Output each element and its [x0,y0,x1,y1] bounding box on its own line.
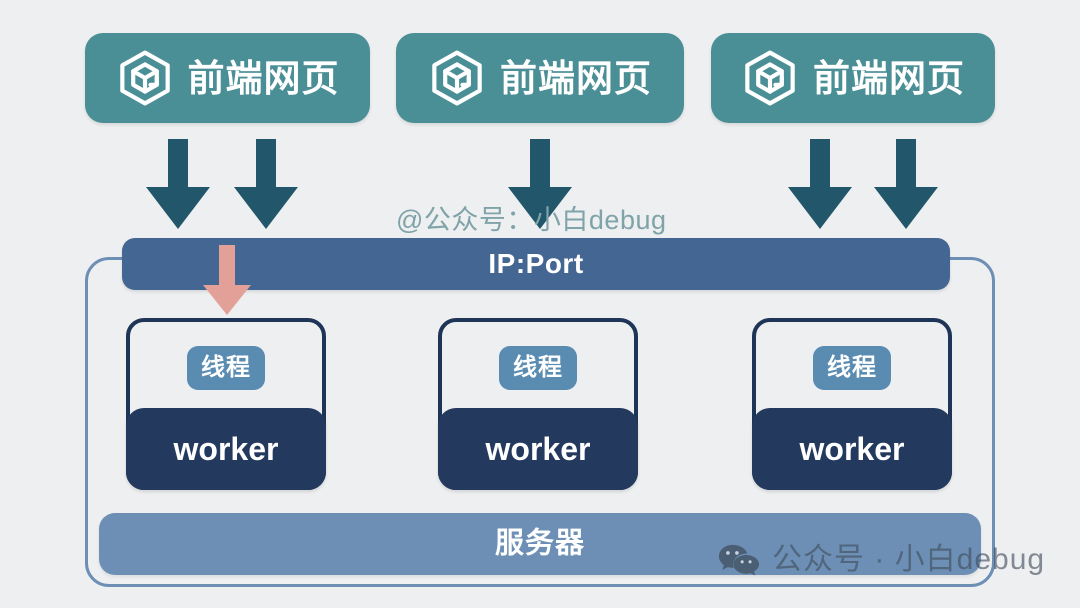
watermark-bottom-label: 公众号 · 小白debug [772,545,1045,575]
thread-label: 线程 [201,356,251,380]
arrow-down-icon [786,139,854,231]
thread-label: 线程 [827,356,877,380]
arrow-down-icon [232,139,300,231]
arrow-down-pink-icon [201,245,253,317]
thread-badge: 线程 [187,346,265,390]
client-box-2: 前端网页 [396,33,684,123]
cube-icon [741,49,799,107]
thread-badge: 线程 [499,346,577,390]
client-label: 前端网页 [813,60,965,97]
worker-box: worker [752,408,952,490]
diagram-canvas: 前端网页 前端网页 [0,0,1080,608]
worker-box: worker [438,408,638,490]
client-box-1: 前端网页 [85,33,370,123]
worker-label: worker [800,433,905,465]
worker-box: worker [126,408,326,490]
thread-badge: 线程 [813,346,891,390]
cube-icon [116,49,174,107]
worker-group: 线程 worker [126,318,326,490]
watermark-bottom: 公众号 · 小白debug [718,543,1045,577]
wechat-icon [718,543,760,577]
worker-group: 线程 worker [752,318,952,490]
ip-port-label: IP:Port [488,250,583,278]
thread-label: 线程 [513,356,563,380]
worker-label: worker [174,433,279,465]
watermark-middle: @公众号：小白debug [396,198,667,237]
cube-icon [428,49,486,107]
arrow-down-icon [144,139,212,231]
worker-label: worker [486,433,591,465]
worker-group: 线程 worker [438,318,638,490]
client-box-3: 前端网页 [711,33,995,123]
client-label: 前端网页 [188,60,340,97]
arrow-down-icon [872,139,940,231]
client-label: 前端网页 [500,60,652,97]
